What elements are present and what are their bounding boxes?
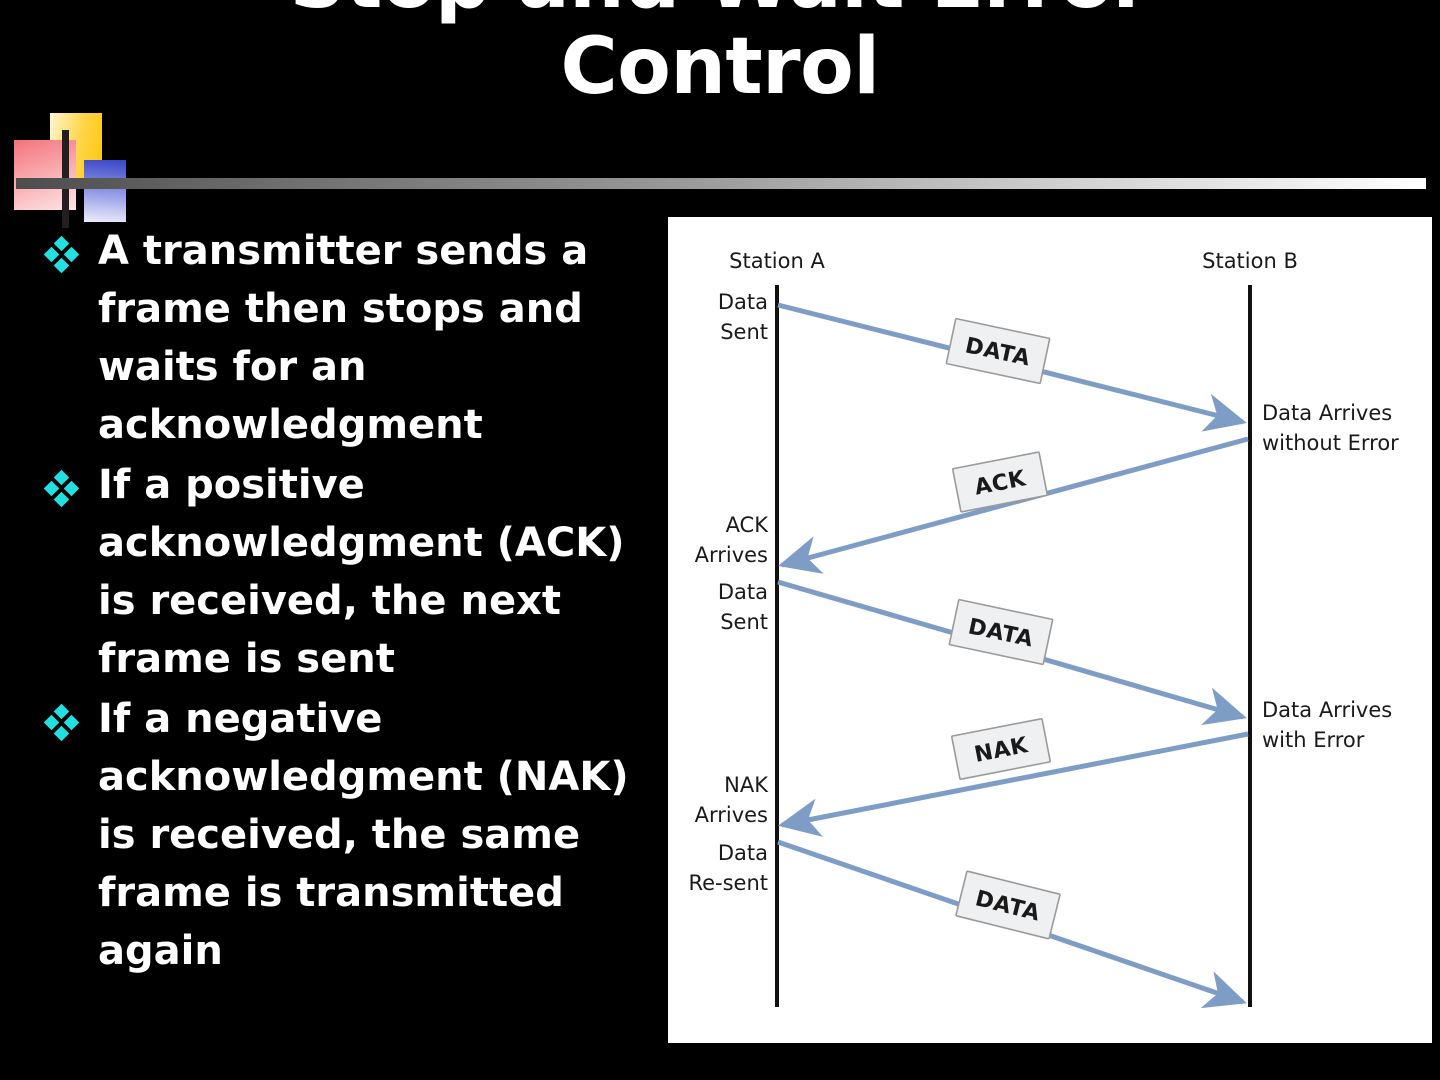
- svg-text:Data: Data: [718, 841, 768, 865]
- svg-text:Data: Data: [718, 580, 768, 604]
- message-tag-data-1: DATA: [946, 319, 1049, 384]
- decorative-logo: [12, 112, 142, 220]
- list-item: A transmitter sends a frame then stops a…: [46, 222, 658, 454]
- svg-text:Data Arrives: Data Arrives: [1262, 698, 1392, 722]
- svg-text:Data Arrives: Data Arrives: [1262, 401, 1392, 425]
- station-a-title: Station A: [729, 249, 825, 273]
- stop-and-wait-sequence-diagram: Station A Station B DATA ACK: [668, 217, 1432, 1043]
- svg-text:Data: Data: [718, 290, 768, 314]
- message-tag-data-3: DATA: [956, 871, 1060, 939]
- logo-square-blue: [84, 160, 126, 222]
- station-b-title: Station B: [1202, 249, 1298, 273]
- event-label-data-arrives-with-error: Data Arrives with Error: [1262, 698, 1392, 752]
- bullet-text: If a negative acknowledgment (NAK) is re…: [98, 690, 658, 980]
- bullet-text: A transmitter sends a frame then stops a…: [98, 222, 658, 454]
- event-label-nak-arrives: NAK Arrives: [695, 773, 770, 827]
- bullet-text: If a positive acknowledgment (ACK) is re…: [98, 456, 658, 688]
- header-divider: [16, 178, 1426, 189]
- message-tag-nak: NAK: [952, 719, 1051, 780]
- svg-text:with Error: with Error: [1262, 728, 1365, 752]
- bullet-list: A transmitter sends a frame then stops a…: [46, 222, 658, 982]
- svg-text:Arrives: Arrives: [695, 543, 768, 567]
- event-label-data-resent: Data Re-sent: [688, 841, 768, 895]
- svg-text:Sent: Sent: [720, 610, 768, 634]
- svg-text:Arrives: Arrives: [695, 803, 768, 827]
- svg-text:Re-sent: Re-sent: [688, 871, 768, 895]
- message-tag-data-2: DATA: [949, 600, 1052, 665]
- list-item: If a negative acknowledgment (NAK) is re…: [46, 690, 658, 980]
- event-label-data-arrives-without-error: Data Arrives without Error: [1262, 401, 1399, 455]
- event-label-data-sent-1: Data Sent: [718, 290, 768, 344]
- diagram-svg: Station A Station B DATA ACK: [668, 217, 1432, 1043]
- svg-text:ACK: ACK: [726, 513, 770, 537]
- diamond-bullet-icon: [46, 238, 80, 276]
- svg-text:without Error: without Error: [1262, 431, 1399, 455]
- svg-text:NAK: NAK: [724, 773, 769, 797]
- event-label-data-sent-2: Data Sent: [718, 580, 768, 634]
- svg-text:Sent: Sent: [720, 320, 768, 344]
- slide-canvas: Stop and Wait Error Control A transmitte…: [0, 0, 1440, 1080]
- list-item: If a positive acknowledgment (ACK) is re…: [46, 456, 658, 688]
- page-title: Stop and Wait Error Control: [120, 0, 1320, 110]
- message-tag-ack: ACK: [953, 452, 1048, 512]
- event-label-ack-arrives: ACK Arrives: [695, 513, 770, 567]
- diamond-bullet-icon: [46, 472, 80, 510]
- diamond-bullet-icon: [46, 706, 80, 744]
